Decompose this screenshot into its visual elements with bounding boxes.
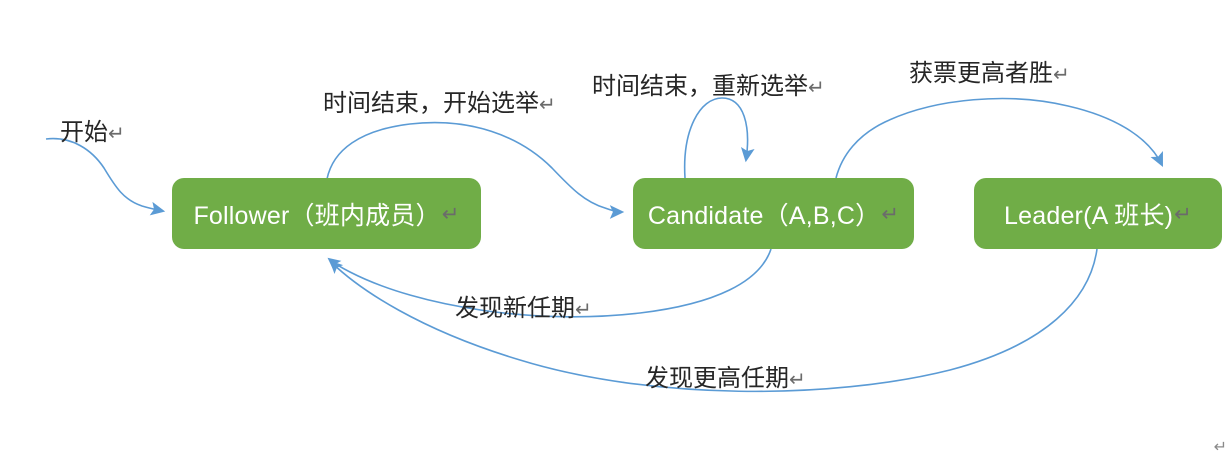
edge-candidate-to-leader [836,99,1162,178]
edge-label-candidate-to-follower: 发现新任期↵ [455,288,592,323]
node-candidate-pilcrow: ↵ [881,202,899,226]
node-leader-label: Leader(A 班长) [1004,196,1173,232]
edge-label-follower-to-candidate: 时间结束，开始选举↵ [323,83,556,118]
edge-candidate-self-loop [685,98,748,178]
edge-label-leader-to-follower: 发现更高任期↵ [645,358,806,393]
node-candidate-label: Candidate（A,B,C） [648,196,880,232]
node-follower[interactable]: Follower（班内成员）↵ [172,178,481,249]
edge-label-candidate-to-leader: 获票更高者胜↵ [909,53,1070,88]
edge-start-arrow [46,139,163,211]
document-end-pilcrow: ↵ [1214,437,1227,456]
edge-label-candidate-self-loop-text: 时间结束，重新选举 [592,74,808,100]
edge-label-candidate-to-leader-text: 获票更高者胜 [909,61,1053,87]
edge-label-candidate-self-loop: 时间结束，重新选举↵ [592,66,825,101]
node-follower-pilcrow: ↵ [442,202,460,226]
edge-label-leader-to-follower-text: 发现更高任期 [645,366,789,392]
edge-label-follower-to-candidate-pilcrow: ↵ [539,92,556,116]
node-leader[interactable]: Leader(A 班长)↵ [974,178,1222,249]
edge-label-start-pilcrow: ↵ [108,121,125,145]
node-leader-pilcrow: ↵ [1174,202,1192,226]
node-candidate[interactable]: Candidate（A,B,C）↵ [633,178,914,249]
edge-label-start-text: 开始 [60,120,108,146]
diagram-canvas: Follower（班内成员）↵ Candidate（A,B,C）↵ Leader… [0,0,1229,456]
edge-label-candidate-to-follower-text: 发现新任期 [455,296,575,322]
edge-label-leader-to-follower-pilcrow: ↵ [789,367,806,391]
edge-label-candidate-to-leader-pilcrow: ↵ [1053,62,1070,86]
edge-label-candidate-self-loop-pilcrow: ↵ [808,75,825,99]
edge-label-candidate-to-follower-pilcrow: ↵ [575,297,592,321]
node-follower-label: Follower（班内成员） [193,196,440,232]
edge-label-start: 开始↵ [60,112,125,147]
edge-label-follower-to-candidate-text: 时间结束，开始选举 [323,91,539,117]
